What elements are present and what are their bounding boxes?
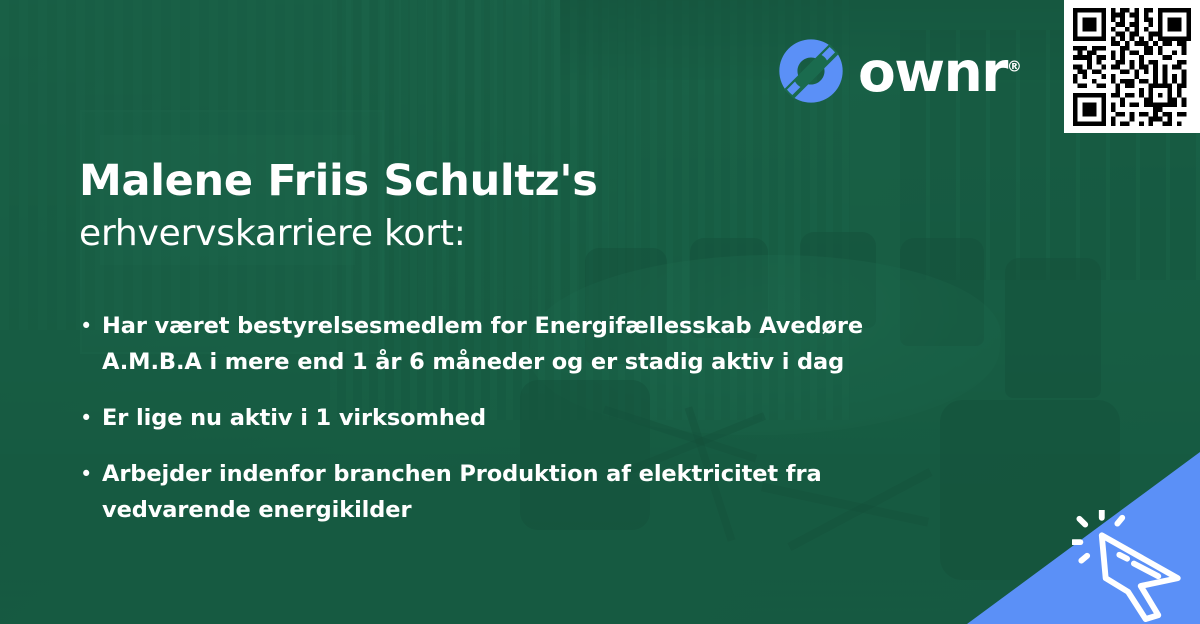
ownr-wordmark: ownr® bbox=[858, 45, 1022, 100]
registered-trademark-symbol: ® bbox=[1007, 57, 1022, 75]
career-summary-card: ownr® bbox=[0, 0, 1200, 624]
bullet-icon: • bbox=[80, 456, 102, 492]
list-item: • Er lige nu aktiv i 1 virksomhed bbox=[80, 400, 1010, 436]
click-cursor-icon bbox=[1072, 510, 1190, 622]
list-item-text: Arbejder indenfor branchen Produktion af… bbox=[102, 456, 952, 528]
list-item-text: Er lige nu aktiv i 1 virksomhed bbox=[102, 400, 486, 436]
ownr-logo[interactable]: ownr® bbox=[778, 38, 1022, 104]
page-subtitle: erhvervskarriere kort: bbox=[79, 212, 466, 255]
list-item-text: Har været bestyrelsesmedlem for Energifæ… bbox=[102, 308, 952, 380]
card-content: ownr® bbox=[0, 0, 1200, 624]
bullet-icon: • bbox=[80, 400, 102, 436]
bullet-icon: • bbox=[80, 308, 102, 344]
page-title: Malene Friis Schultz's bbox=[79, 156, 598, 207]
ownr-wordmark-text: ownr bbox=[858, 40, 1007, 104]
list-item: • Har været bestyrelsesmedlem for Energi… bbox=[80, 308, 1010, 380]
list-item: • Arbejder indenfor branchen Produktion … bbox=[80, 456, 1010, 528]
qr-code[interactable] bbox=[1064, 0, 1200, 133]
ownr-circle-logo-icon bbox=[778, 38, 844, 104]
career-facts-list: • Har været bestyrelsesmedlem for Energi… bbox=[80, 308, 1010, 548]
